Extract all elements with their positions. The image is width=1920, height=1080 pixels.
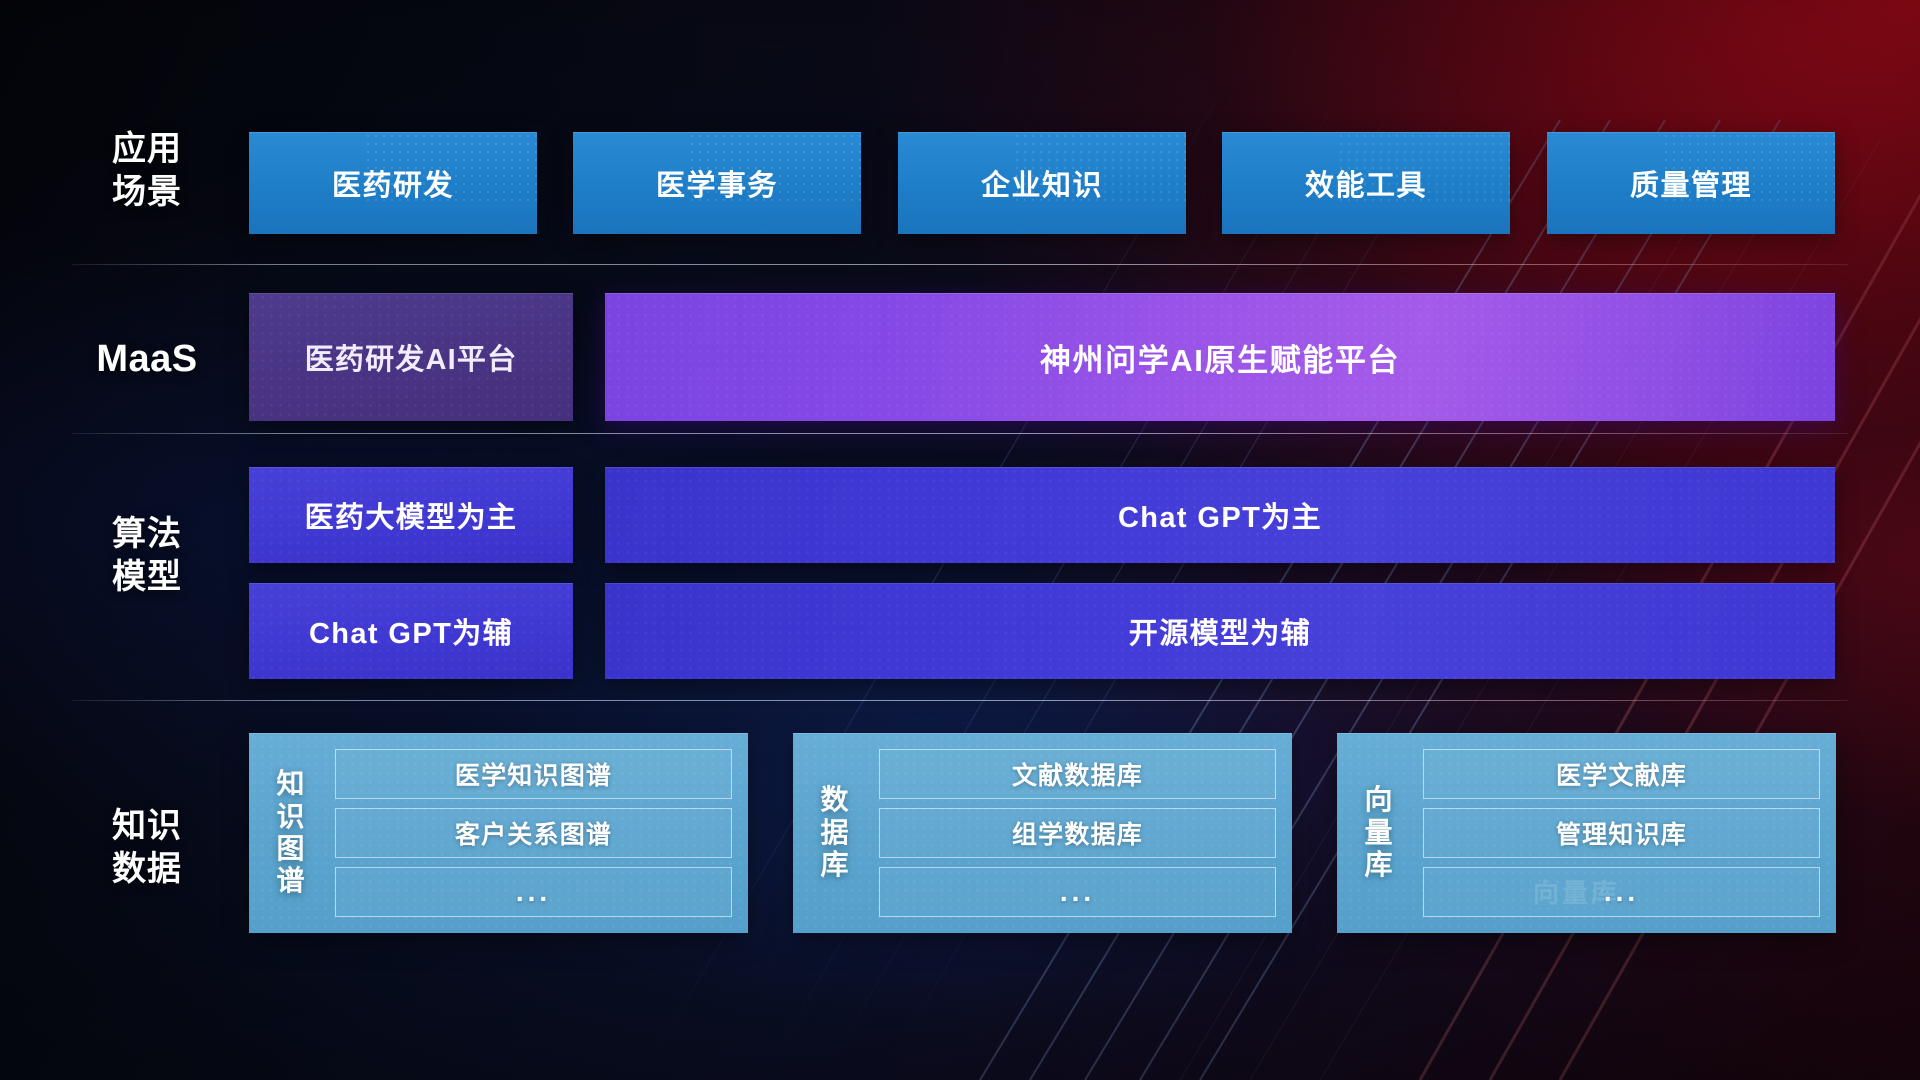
knowledge-item-list: 医学文献库 管理知识库 ...: [1423, 749, 1820, 917]
scenario-box-3[interactable]: 企业知识: [898, 132, 1186, 234]
tier-label-algorithm-models: 算法 模型: [88, 513, 206, 599]
scenario-box-2[interactable]: 医学事务: [573, 132, 861, 234]
title-char: 知: [276, 768, 305, 800]
knowledge-item[interactable]: 文献数据库: [879, 749, 1276, 799]
knowledge-group-vector[interactable]: 向 量 库 医学文献库 管理知识库 ...: [1337, 733, 1836, 933]
maas-platform-label: 医药研发AI平台: [305, 336, 518, 378]
knowledge-item-more[interactable]: ...: [879, 867, 1276, 917]
scenario-label: 质量管理: [1630, 162, 1752, 204]
model-label: Chat GPT为主: [1118, 494, 1322, 536]
title-char: 量: [1364, 817, 1393, 849]
title-char: 库: [820, 849, 849, 881]
title-char: 库: [1364, 849, 1393, 881]
model-label: 开源模型为辅: [1129, 610, 1311, 652]
scenario-label: 效能工具: [1305, 162, 1427, 204]
tier-divider-2: [72, 433, 1848, 434]
knowledge-item-list: 文献数据库 组学数据库 ...: [879, 749, 1276, 917]
knowledge-group-title: 向 量 库: [1349, 784, 1409, 881]
knowledge-item[interactable]: 医学知识图谱: [335, 749, 732, 799]
scenario-label: 医药研发: [332, 162, 454, 204]
title-char: 图: [276, 833, 305, 865]
knowledge-group-title: 数 据 库: [805, 784, 865, 881]
model-label: 医药大模型为主: [305, 494, 518, 536]
scenario-box-5[interactable]: 质量管理: [1547, 132, 1835, 234]
model-box-secondary-right[interactable]: 开源模型为辅: [605, 583, 1835, 679]
knowledge-item-more[interactable]: ...: [1423, 867, 1820, 917]
model-label: Chat GPT为辅: [309, 610, 513, 652]
tier-label-line-1: 知识: [88, 805, 206, 848]
title-char: 据: [820, 817, 849, 849]
tier-label-line-2: 模型: [88, 556, 206, 599]
model-box-secondary-left[interactable]: Chat GPT为辅: [249, 583, 573, 679]
title-char: 向: [1364, 784, 1393, 816]
title-char: 数: [820, 784, 849, 816]
title-char: 识: [276, 801, 305, 833]
knowledge-group-graph[interactable]: 知 识 图 谱 医学知识图谱 客户关系图谱 ...: [249, 733, 748, 933]
tier-label-line-2: 数据: [88, 848, 206, 891]
tier-label-line-1: 应用: [88, 128, 206, 171]
tier-label-line-1: MaaS: [88, 336, 206, 384]
maas-platform-box-medical[interactable]: 医药研发AI平台: [249, 293, 573, 421]
knowledge-item[interactable]: 医学文献库: [1423, 749, 1820, 799]
scenario-box-4[interactable]: 效能工具: [1222, 132, 1510, 234]
knowledge-group-title: 知 识 图 谱: [261, 768, 321, 898]
tier-divider-1: [72, 264, 1848, 265]
scenario-box-1[interactable]: 医药研发: [249, 132, 537, 234]
tier-label-application-scenarios: 应用 场景: [88, 128, 206, 214]
model-box-primary-right[interactable]: Chat GPT为主: [605, 467, 1835, 563]
maas-platform-box-shenzhou[interactable]: 神州问学AI原生赋能平台: [605, 293, 1835, 421]
knowledge-item-more[interactable]: ...: [335, 867, 732, 917]
tier-label-knowledge-data: 知识 数据: [88, 805, 206, 891]
architecture-diagram: 应用 场景 医药研发 医学事务 企业知识 效能工具 质量管理 MaaS 医药研发…: [0, 0, 1920, 1080]
knowledge-item[interactable]: 客户关系图谱: [335, 808, 732, 858]
tier-divider-3: [72, 700, 1848, 701]
knowledge-item-list: 医学知识图谱 客户关系图谱 ...: [335, 749, 732, 917]
tier-label-line-1: 算法: [88, 513, 206, 556]
knowledge-item[interactable]: 管理知识库: [1423, 808, 1820, 858]
title-char: 谱: [276, 865, 305, 897]
knowledge-item[interactable]: 组学数据库: [879, 808, 1276, 858]
knowledge-group-database[interactable]: 数 据 库 文献数据库 组学数据库 ...: [793, 733, 1292, 933]
scenario-label: 企业知识: [981, 162, 1103, 204]
model-box-primary-left[interactable]: 医药大模型为主: [249, 467, 573, 563]
tier-label-line-2: 场景: [88, 171, 206, 214]
scenario-label: 医学事务: [656, 162, 778, 204]
maas-platform-label: 神州问学AI原生赋能平台: [1040, 335, 1400, 380]
tier-label-maas: MaaS: [88, 336, 206, 384]
